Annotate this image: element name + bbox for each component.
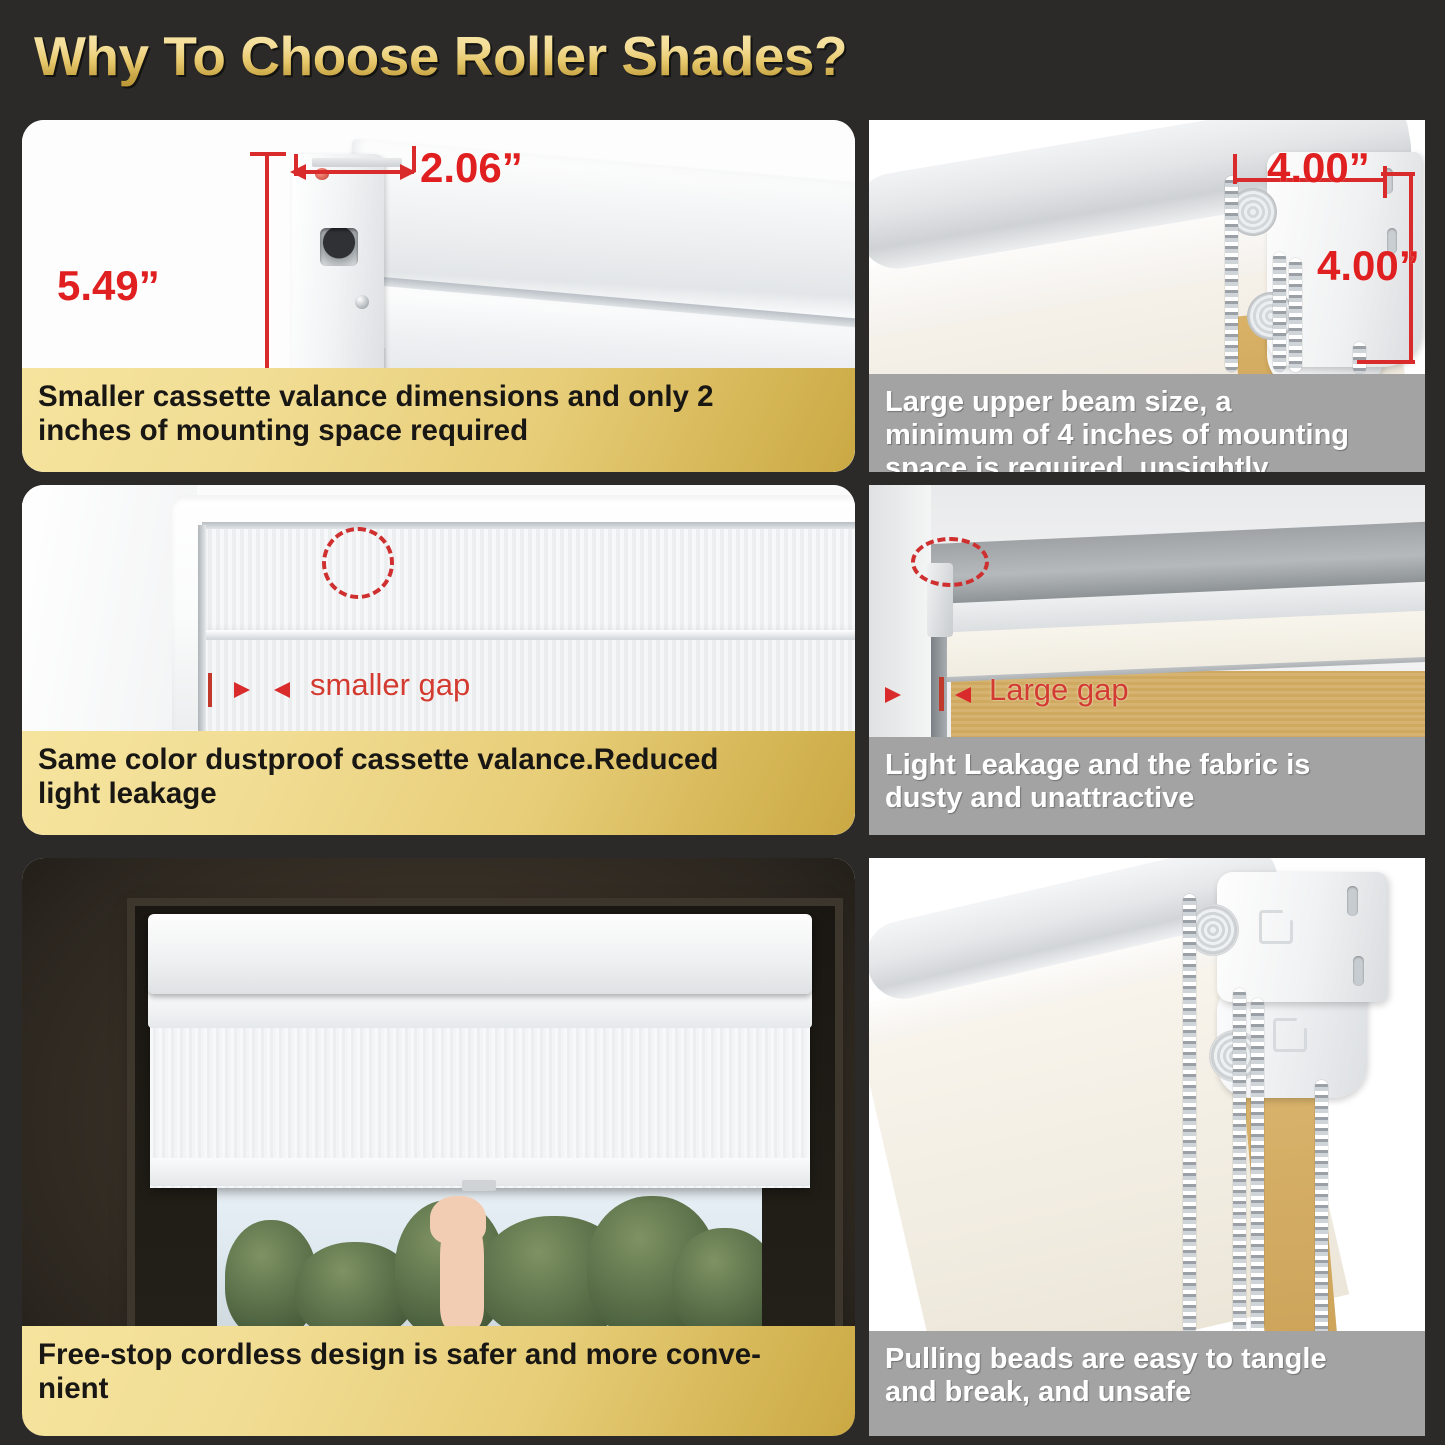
bracket-slot-icon: [320, 228, 358, 266]
smaller-gap-label: smaller gap: [310, 667, 470, 703]
shade-mid-rail: [204, 630, 855, 640]
large-gap-marker: [939, 677, 944, 711]
hand-fist: [430, 1196, 486, 1244]
panel-pulling-beads: Pulling beads are easy to tangle and bre…: [869, 858, 1425, 1436]
panel-smaller-cassette: 2.06” 5.49” Smaller cassette valance dim…: [22, 120, 855, 472]
bead-chain-3: [1251, 998, 1264, 1336]
comparison-row-2: smaller gap Same color dustproof cassett…: [0, 480, 1445, 850]
beam-height-tick-top: [1381, 172, 1415, 176]
beam-height-label: 4.00”: [1317, 242, 1420, 290]
panel-4-caption-bar: Light Leakage and the fabric is dusty an…: [869, 737, 1425, 835]
shade-left-edge: [198, 525, 206, 735]
beam-bead-chain-3: [1289, 258, 1302, 372]
bead-chain-4: [1315, 1080, 1328, 1336]
shade-pull-tab: [462, 1180, 496, 1191]
panel-6-caption-text: Pulling beads are easy to tangle and bre…: [885, 1343, 1327, 1409]
width-dimension-line: [294, 170, 414, 174]
leak-wall: [869, 485, 931, 770]
tree-6: [672, 1228, 762, 1330]
shade-valance: [204, 525, 855, 635]
width-arrow-left-icon: [290, 164, 306, 180]
beam-bead-chain-1: [1225, 176, 1238, 372]
panel-light-leakage: Large gap Light Leakage and the fabric i…: [869, 485, 1425, 835]
beam-width-tick-right: [1383, 166, 1387, 198]
window-outside-view: [217, 1178, 762, 1330]
panel-1-caption-bar: Smaller cassette valance dimensions and …: [22, 368, 855, 472]
panel-2-caption-bar: Large upper beam size, a minimum of 4 in…: [869, 374, 1425, 472]
panel-6-caption-bar: Pulling beads are easy to tangle and bre…: [869, 1331, 1425, 1436]
large-gap-label: Large gap: [989, 672, 1129, 708]
smaller-gap-marker: [208, 673, 212, 707]
shade-top-rail: [202, 522, 855, 529]
page-title: Why To Choose Roller Shades?: [34, 24, 847, 88]
large-gap-arrow-right-icon: [885, 687, 901, 703]
beam-bead-chain-4: [1353, 342, 1366, 374]
panel-large-upper-beam: 4.00” 4.00” Large upper beam size, a min…: [869, 120, 1425, 472]
window-wall: [22, 485, 197, 735]
bead-mount-slot-1: [1347, 886, 1358, 916]
bracket-screw-icon: [355, 295, 369, 309]
panel-1-caption-text: Smaller cassette valance dimensions and …: [38, 380, 714, 447]
title-bar: Why To Choose Roller Shades?: [0, 0, 1445, 112]
beam-height-tick-bottom: [1357, 360, 1415, 364]
comparison-row-1: 2.06” 5.49” Smaller cassette valance dim…: [0, 112, 1445, 480]
width-dimension-label: 2.06”: [420, 144, 523, 192]
smaller-gap-arrow-left-icon: [274, 682, 290, 698]
beam-bead-chain-2: [1273, 252, 1286, 372]
panel-3-caption-bar: Same color dustproof cassette valance.Re…: [22, 731, 855, 835]
bead-chain-2: [1233, 988, 1246, 1336]
width-arrow-right-icon: [400, 164, 416, 180]
height-tick-top: [250, 152, 286, 156]
gap-highlight-circle-icon: [322, 527, 394, 599]
shade-lower-fabric: [204, 640, 855, 735]
shade-cassette-upper: [148, 914, 812, 994]
beam-width-tick-left: [1233, 154, 1237, 184]
panel-dustproof-valance: smaller gap Same color dustproof cassett…: [22, 485, 855, 835]
bead-chain-1: [1183, 894, 1196, 1334]
large-gap-highlight-circle-icon: [911, 537, 989, 587]
comparison-row-3: Free-stop cordless design is safer and m…: [0, 850, 1445, 1445]
smaller-gap-arrow-right-icon: [234, 682, 250, 698]
panel-4-caption-text: Light Leakage and the fabric is dusty an…: [885, 749, 1310, 815]
panel-2-caption-text: Large upper beam size, a minimum of 4 in…: [885, 386, 1349, 472]
height-dimension-label: 5.49”: [57, 262, 160, 310]
panel-5-caption-bar: Free-stop cordless design is safer and m…: [22, 1326, 855, 1436]
bead-mount-slot-2: [1353, 956, 1364, 986]
large-gap-arrow-left-icon: [955, 687, 971, 703]
panel-3-caption-text: Same color dustproof cassette valance.Re…: [38, 743, 718, 810]
panel-cordless-design: Free-stop cordless design is safer and m…: [22, 858, 855, 1436]
panel-5-caption-text: Free-stop cordless design is safer and m…: [38, 1338, 761, 1405]
beam-width-label: 4.00”: [1267, 144, 1370, 192]
beam-end-cap-lower: [1247, 292, 1295, 340]
bracket-top-tab: [312, 158, 402, 167]
